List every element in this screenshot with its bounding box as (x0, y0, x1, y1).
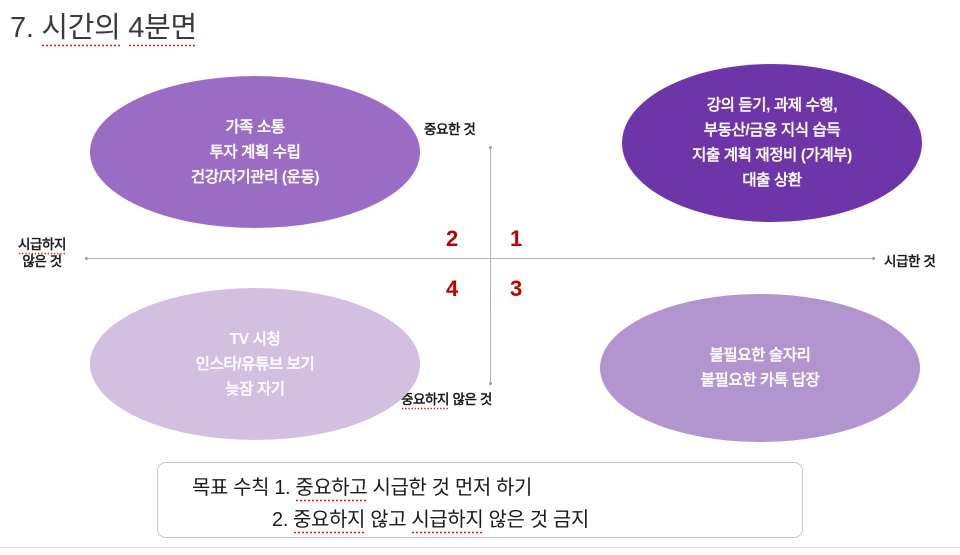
slide-canvas: 7. 시간의 4분면 중요한 것 중요하지 않은 것 시급한 것 시급하지 않은… (0, 0, 960, 555)
goal-rule-1-prefix: 목표 수칙 1. (192, 477, 295, 499)
axis-label-not-important-word: 중요하지 (401, 392, 449, 410)
quadrant-number-1: 1 (510, 228, 522, 250)
vertical-axis-line (490, 147, 491, 384)
axis-label-important: 중요한 것 (424, 118, 475, 138)
goal-rule-2-spell-word-1: 중요하지 (293, 509, 365, 535)
page-title: 7. 시간의 4분면 (10, 4, 197, 46)
quadrant-4-text: TV 시청 인스타/유튜브 보기 늦잠 자기 (190, 327, 321, 402)
goal-rules-box: 목표 수칙 1. 중요하고 시급한 것 먼저 하기 2. 중요하지 않고 시급하… (157, 462, 803, 538)
quadrant-1-line: 지출 계획 재정비 (가계부) (686, 143, 858, 168)
title-word-1: 시간의 (41, 12, 120, 48)
axis-label-not-important-rest: 않은 것 (449, 392, 492, 407)
quadrant-3-text: 불필요한 술자리 불필요한 카톡 답장 (695, 343, 826, 393)
goal-rule-2-mid: 않고 (365, 509, 411, 531)
axis-label-not-important: 중요하지 않은 것 (401, 388, 492, 408)
goal-rule-2-spell-word-2: 시급하지 (411, 509, 483, 535)
quadrant-3-line: 불필요한 카톡 답장 (695, 368, 826, 393)
quadrant-number-4: 4 (446, 278, 458, 300)
quadrant-1-line: 부동산/금융 지식 습득 (686, 118, 858, 143)
quadrant-number-3: 3 (510, 278, 522, 300)
title-number: 7. (10, 12, 41, 44)
axis-endpoint-bottom-icon (489, 382, 492, 385)
footer-divider (0, 547, 960, 548)
quadrant-2-text: 가족 소통 투자 계획 수립 건강/자기관리 (운동) (185, 115, 325, 190)
axis-label-urgent: 시급한 것 (884, 250, 935, 270)
axis-label-not-urgent-line2: 않은 것 (18, 253, 66, 270)
quadrant-1-line: 강의 듣기, 과제 수행, (686, 93, 858, 118)
quadrant-1-line: 대출 상환 (686, 168, 858, 193)
quadrant-4-line: TV 시청 (190, 327, 321, 352)
axis-endpoint-left-icon (85, 257, 88, 260)
quadrant-4-ellipse[interactable]: TV 시청 인스타/유튜브 보기 늦잠 자기 (90, 288, 420, 440)
horizontal-axis-line (86, 258, 874, 259)
quadrant-3-ellipse[interactable]: 불필요한 술자리 불필요한 카톡 답장 (600, 294, 920, 442)
quadrant-2-line: 건강/자기관리 (운동) (185, 165, 325, 190)
axis-endpoint-top-icon (489, 146, 492, 149)
title-word-2: 4분면 (128, 12, 197, 48)
quadrant-4-line: 인스타/유튜브 보기 (190, 352, 321, 377)
goal-rule-line-2: 2. 중요하지 않고 시급하지 않은 것 금지 (272, 503, 589, 532)
goal-rule-line-1: 목표 수칙 1. 중요하고 시급한 것 먼저 하기 (192, 471, 532, 500)
axis-endpoint-right-icon (872, 257, 875, 260)
goal-rule-2-prefix: 2. (272, 509, 293, 531)
goal-rule-1-spell-word: 중요하고 (295, 477, 367, 503)
quadrant-2-line: 투자 계획 수립 (185, 140, 325, 165)
goal-rule-1-suffix: 시급한 것 먼저 하기 (367, 477, 532, 499)
quadrant-1-ellipse[interactable]: 강의 듣기, 과제 수행, 부동산/금융 지식 습득 지출 계획 재정비 (가계… (622, 64, 922, 222)
quadrant-2-ellipse[interactable]: 가족 소통 투자 계획 수립 건강/자기관리 (운동) (90, 76, 420, 228)
axis-label-not-urgent: 시급하지 않은 것 (18, 236, 66, 270)
quadrant-3-line: 불필요한 술자리 (695, 343, 826, 368)
quadrant-4-line: 늦잠 자기 (190, 377, 321, 402)
quadrant-1-text: 강의 듣기, 과제 수행, 부동산/금융 지식 습득 지출 계획 재정비 (가계… (686, 93, 858, 193)
quadrant-2-line: 가족 소통 (185, 115, 325, 140)
quadrant-number-2: 2 (446, 228, 458, 250)
goal-rule-2-suffix: 않은 것 금지 (483, 509, 588, 531)
